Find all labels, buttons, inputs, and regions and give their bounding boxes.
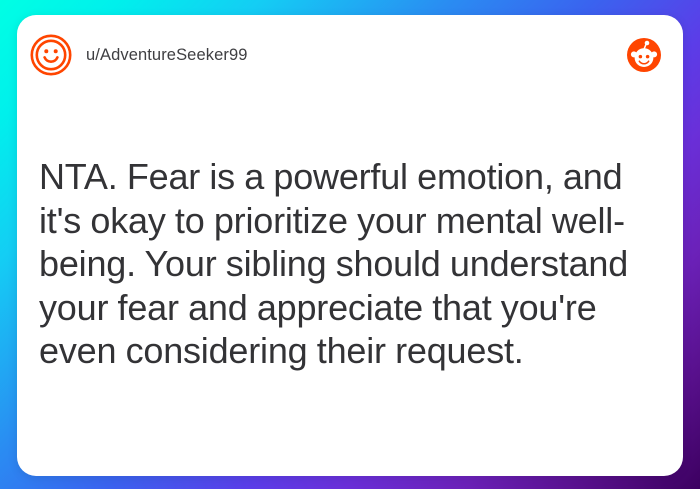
screenshot-root: u/AdventureSeeker99 NTA. Fear is a power… [0,0,700,489]
post-text: NTA. Fear is a powerful emotion, and it'… [39,155,661,373]
smiley-face-avatar-icon [30,34,72,76]
reddit-post-card: u/AdventureSeeker99 NTA. Fear is a power… [17,15,683,476]
username-label: u/AdventureSeeker99 [86,46,248,65]
avatar[interactable] [30,34,72,76]
post-body: NTA. Fear is a powerful emotion, and it'… [39,155,661,373]
post-header: u/AdventureSeeker99 [17,15,683,95]
reddit-snoo-icon[interactable] [627,38,661,72]
